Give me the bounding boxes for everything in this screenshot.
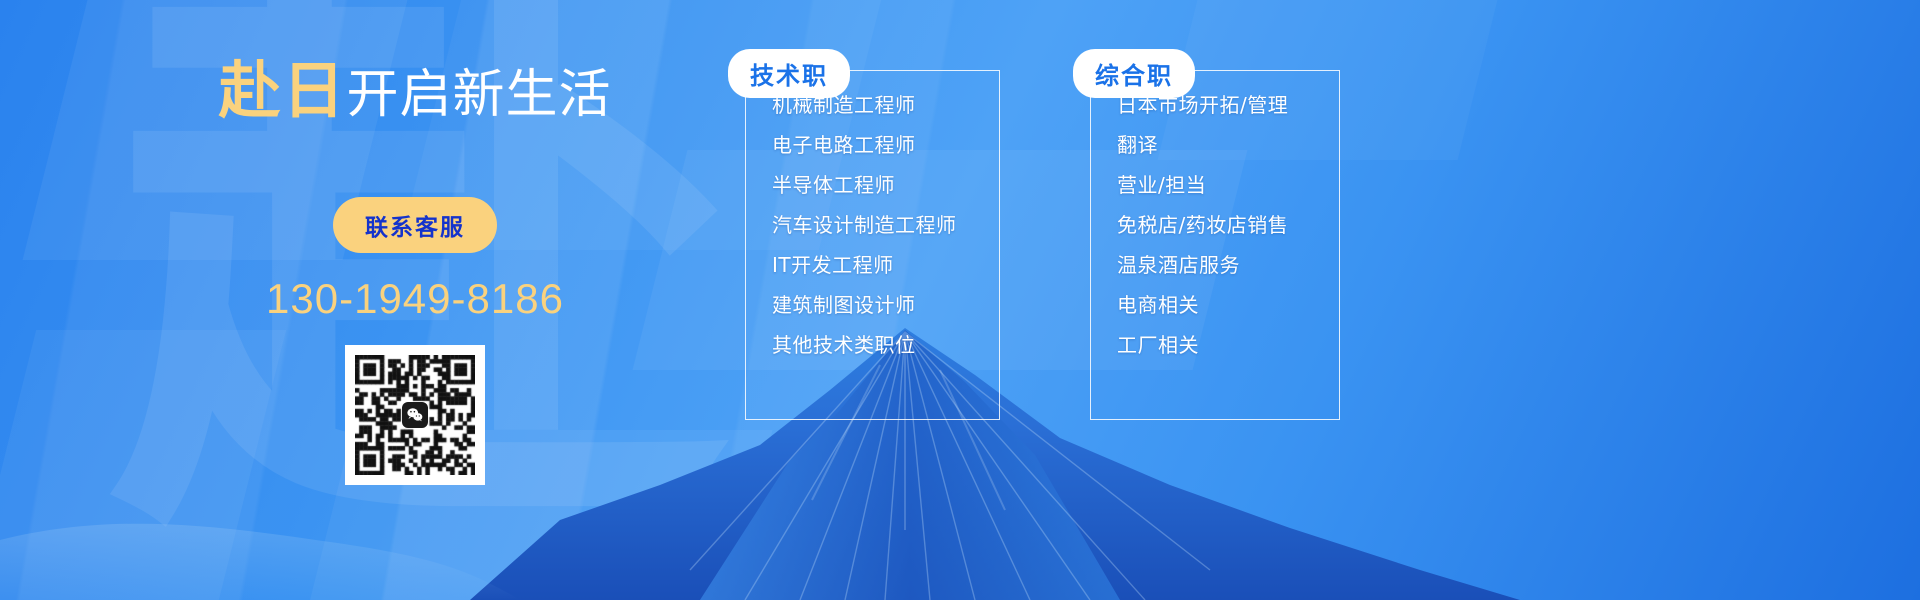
list-item[interactable]: 工厂相关 [1117, 335, 1339, 355]
job-column-box: 综合职 日本市场开拓/管理 翻译 营业/担当 免税店/药妆店销售 温泉酒店服务 … [1090, 70, 1340, 420]
contact-support-button[interactable]: 联系客服 [333, 197, 497, 253]
job-column-label-general[interactable]: 综合职 [1073, 49, 1195, 98]
headline-rest: 开启新生活 [347, 65, 612, 125]
job-column-label-technical[interactable]: 技术职 [728, 49, 850, 98]
wechat-icon [402, 402, 428, 428]
list-item[interactable]: 免税店/药妆店销售 [1117, 215, 1339, 235]
job-column-technical: 技术职 机械制造工程师 电子电路工程师 半导体工程师 汽车设计制造工程师 IT开… [745, 70, 1000, 420]
phone-number[interactable]: 130-1949-8186 [180, 275, 650, 323]
list-item[interactable]: 日本市场开拓/管理 [1117, 95, 1339, 115]
job-list-technical: 机械制造工程师 电子电路工程师 半导体工程师 汽车设计制造工程师 IT开发工程师… [772, 95, 999, 355]
list-item[interactable]: 建筑制图设计师 [772, 295, 999, 315]
list-item[interactable]: 翻译 [1117, 135, 1339, 155]
list-item[interactable]: 电商相关 [1117, 295, 1339, 315]
list-item[interactable]: 汽车设计制造工程师 [772, 215, 999, 235]
headline-accent: 赴日 [218, 54, 346, 127]
list-item[interactable]: 其他技术类职位 [772, 335, 999, 355]
list-item[interactable]: 机械制造工程师 [772, 95, 999, 115]
promo-left-block: 赴日开启新生活 联系客服 130-1949-8186 [180, 30, 650, 490]
list-item[interactable]: IT开发工程师 [772, 255, 999, 275]
page-title: 赴日开启新生活 [180, 60, 650, 122]
list-item[interactable]: 半导体工程师 [772, 175, 999, 195]
job-list-general: 日本市场开拓/管理 翻译 营业/担当 免税店/药妆店销售 温泉酒店服务 电商相关… [1117, 95, 1339, 355]
list-item[interactable]: 电子电路工程师 [772, 135, 999, 155]
qr-code[interactable] [345, 345, 485, 485]
job-column-general: 综合职 日本市场开拓/管理 翻译 营业/担当 免税店/药妆店销售 温泉酒店服务 … [1090, 70, 1340, 420]
list-item[interactable]: 温泉酒店服务 [1117, 255, 1339, 275]
job-column-box: 技术职 机械制造工程师 电子电路工程师 半导体工程师 汽车设计制造工程师 IT开… [745, 70, 1000, 420]
list-item[interactable]: 营业/担当 [1117, 175, 1339, 195]
promo-banner: 赴 [0, 0, 1920, 600]
